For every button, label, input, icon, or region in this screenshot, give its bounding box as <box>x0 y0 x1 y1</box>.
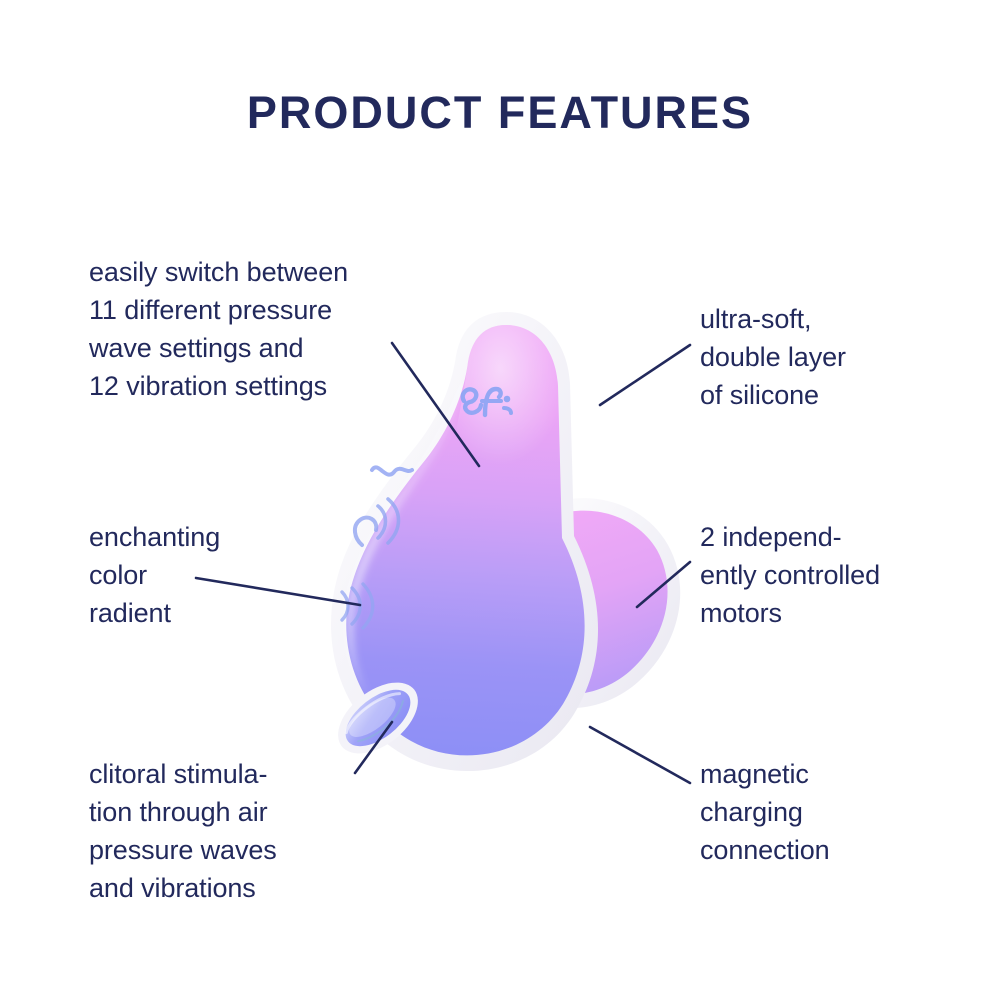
callout-motors: 2 independ- ently controlled motors <box>700 518 965 632</box>
callout-silicone: ultra-soft, double layer of silicone <box>700 300 960 414</box>
product-features-infographic: PRODUCT FEATURES <box>0 0 1000 1000</box>
callout-color-gradient: enchanting color radient <box>89 518 339 632</box>
callout-clitoral-stimulation: clitoral stimula- tion through air press… <box>89 755 389 907</box>
callout-magnetic-charging: magnetic charging connection <box>700 755 960 869</box>
page-title: PRODUCT FEATURES <box>0 90 1000 135</box>
callout-settings: easily switch between 11 different press… <box>89 253 419 405</box>
